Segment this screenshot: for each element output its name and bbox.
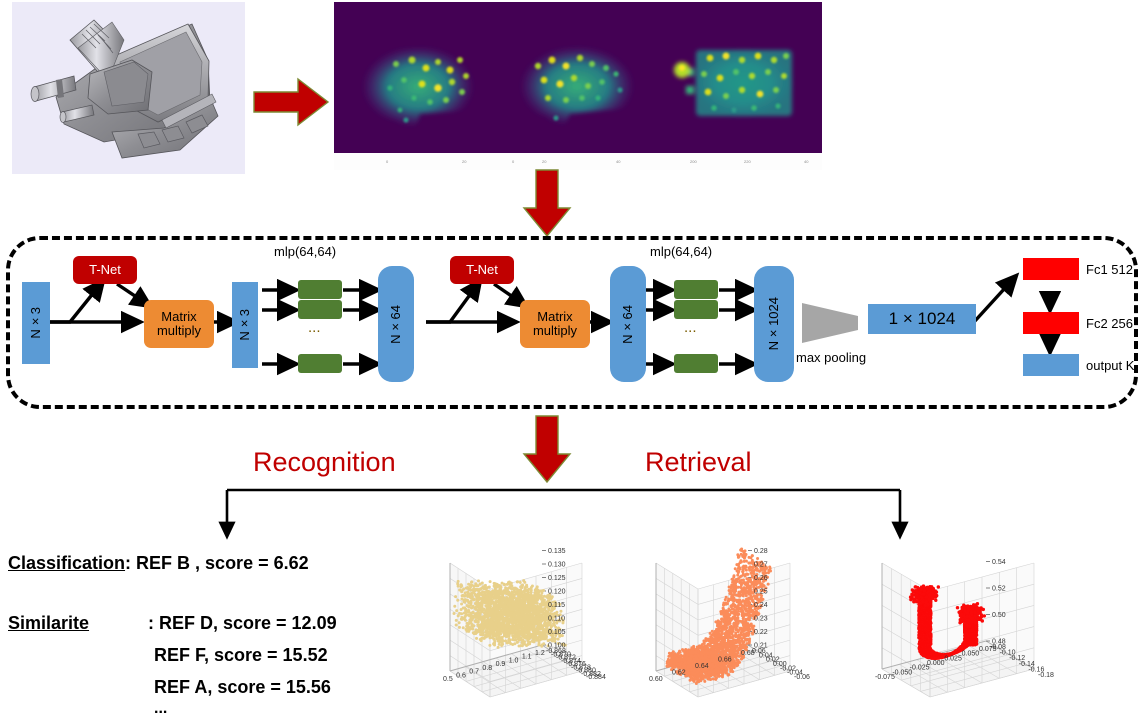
similarity-item-2: REF A, score = 15.56: [154, 677, 331, 698]
mlp-unit-b3: [674, 354, 718, 373]
block-matrix-multiply-a: Matrix multiply: [144, 300, 214, 348]
svg-text:1.1: 1.1: [522, 654, 532, 661]
retrieved-model-plot-1: 0.1400.1350.1300.1250.1200.1150.1100.105…: [420, 543, 650, 713]
svg-text:0.22: 0.22: [754, 629, 768, 636]
classification-result-row: Classification: REF B , score = 6.62: [8, 553, 309, 574]
label-output-k: output K: [1086, 358, 1134, 373]
branch-label-retrieval: Retrieval: [645, 447, 752, 478]
similarity-item-3: ...: [154, 700, 167, 718]
max-pooling-shape: [800, 300, 860, 351]
mlp-unit-b2: [674, 300, 718, 319]
label-fc2: Fc2 256: [1086, 316, 1133, 331]
svg-text:0.62: 0.62: [672, 670, 686, 677]
svg-text:0.28: 0.28: [754, 548, 768, 555]
svg-text:-0.884: -0.884: [586, 674, 606, 681]
block-global-feature: 1 × 1024: [868, 304, 976, 334]
cad-model-panel: [12, 2, 245, 174]
similarity-label-wrap: Similarite: [8, 613, 99, 634]
point-cloud-density-heatmap: 0200 2040200 22040: [334, 2, 822, 170]
svg-text:0.7: 0.7: [469, 669, 479, 676]
svg-text:20: 20: [542, 159, 547, 164]
block-output-k: [1023, 354, 1079, 376]
similarity-item-1: REF F, score = 15.52: [154, 645, 328, 666]
classification-value: : REF B , score = 6.62: [125, 553, 309, 573]
svg-text:0.25: 0.25: [754, 588, 768, 595]
svg-text:0.60: 0.60: [649, 676, 663, 683]
svg-text:40: 40: [616, 159, 621, 164]
svg-text:1.0: 1.0: [509, 657, 519, 664]
block-nx1024: N×1024: [754, 266, 794, 382]
similarity-label: Similarite: [8, 613, 89, 633]
label-mlp-b: mlp(64,64): [650, 244, 712, 259]
branch-label-recognition: Recognition: [253, 447, 396, 478]
svg-text:0.125: 0.125: [548, 575, 566, 582]
mlp-unit-a2: [298, 300, 342, 319]
svg-text:0.23: 0.23: [754, 615, 768, 622]
svg-text:0.24: 0.24: [754, 602, 768, 609]
svg-text:0.110: 0.110: [548, 615, 565, 622]
svg-text:0.8: 0.8: [482, 665, 492, 672]
mlp-unit-a3: [298, 354, 342, 373]
svg-text:0.27: 0.27: [754, 561, 768, 568]
block-nx3-b: N×3: [232, 282, 258, 368]
cad-part-3d-model: [12, 2, 245, 174]
arrow-input-to-heatmap: [252, 76, 330, 128]
mlp-unit-a1: [298, 280, 342, 299]
svg-text:20: 20: [462, 159, 467, 164]
svg-text:220: 220: [744, 159, 751, 164]
svg-text:0.64: 0.64: [695, 663, 709, 670]
svg-text:200: 200: [690, 159, 697, 164]
similarity-item-0: : REF D, score = 12.09: [148, 613, 337, 634]
ellipsis-b: ...: [684, 319, 697, 336]
block-nx64-b: N×64: [610, 266, 646, 382]
retrieved-model-plot-2: 0.290.280.270.260.250.240.230.220.210.60…: [620, 543, 860, 713]
classification-label: Classification: [8, 553, 125, 573]
svg-text:0.135: 0.135: [548, 548, 566, 555]
svg-text:40: 40: [804, 159, 809, 164]
svg-text:0.66: 0.66: [718, 657, 732, 664]
label-max-pooling: max pooling: [796, 350, 866, 365]
block-nx64-a: N×64: [378, 266, 414, 382]
svg-text:0.26: 0.26: [754, 575, 768, 582]
svg-text:-0.06: -0.06: [794, 674, 810, 681]
block-tnet-b: T-Net: [450, 256, 514, 284]
branch-split-connector: [200, 488, 920, 549]
svg-text:0.9: 0.9: [496, 661, 506, 668]
ellipsis-a: ...: [308, 319, 321, 336]
svg-text:0.130: 0.130: [548, 561, 566, 568]
svg-text:0.120: 0.120: [548, 588, 566, 595]
svg-text:0.6: 0.6: [456, 672, 466, 679]
svg-text:0.5: 0.5: [443, 676, 453, 683]
block-tnet-a: T-Net: [73, 256, 137, 284]
label-fc1: Fc1 512: [1086, 262, 1133, 277]
svg-text:1.2: 1.2: [535, 650, 545, 657]
block-nx3-a: N×3: [22, 282, 50, 364]
arrow-network-to-results: [521, 414, 573, 484]
block-fc2: [1023, 312, 1079, 334]
block-fc1: [1023, 258, 1079, 280]
arrow-heatmap-to-network: [521, 168, 573, 238]
svg-text:0.115: 0.115: [548, 602, 565, 609]
svg-text:0.105: 0.105: [548, 629, 566, 636]
mlp-unit-b1: [674, 280, 718, 299]
label-mlp-a: mlp(64,64): [274, 244, 336, 259]
retrieved-model-plot-3: 0.560.540.520.500.48-0.075-0.050-0.0250.…: [862, 543, 1146, 713]
pointnet-architecture-diagram: N×3 T-Net Matrix multiply N×3 mlp(64,64)…: [6, 236, 1138, 409]
block-matrix-multiply-b: Matrix multiply: [520, 300, 590, 348]
